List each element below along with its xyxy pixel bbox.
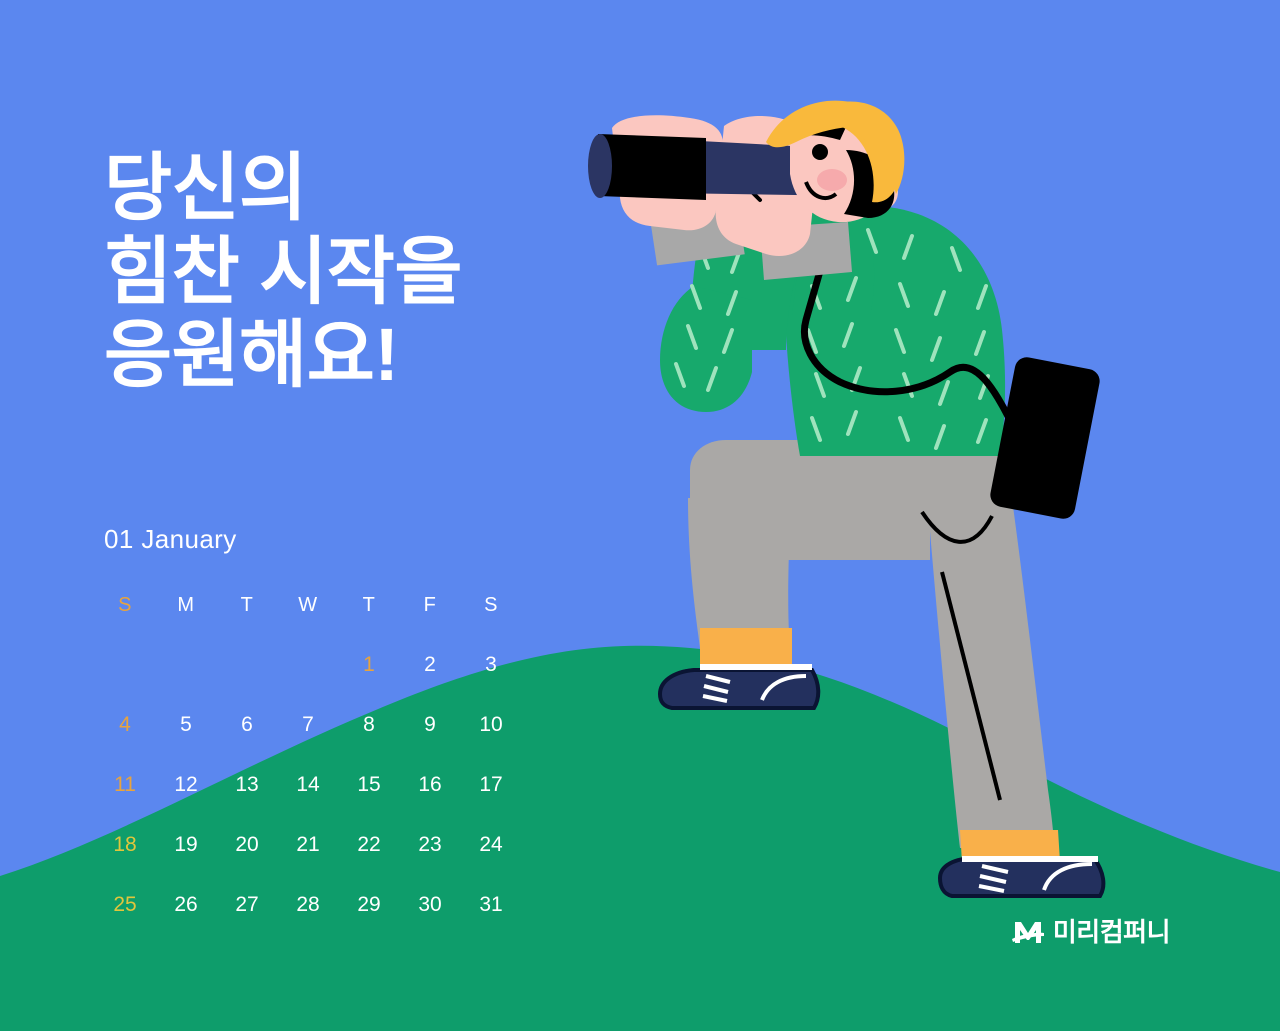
brand-logo: 미리컴퍼니 (1012, 917, 1170, 947)
calendar-day-9[interactable]: 9 (409, 714, 451, 735)
calendar-poster: 당신의 힘찬 시작을 응원해요! 01 January SMTWTFS ....… (0, 0, 1280, 1031)
calendar-weekday-5: F (409, 595, 451, 615)
calendar-day-31[interactable]: 31 (470, 894, 512, 915)
brand-logo-text: 미리컴퍼니 (1053, 919, 1170, 945)
calendar-day-15[interactable]: 15 (348, 774, 390, 795)
calendar-day-grid: ....123456789101112131415161718192021222… (104, 654, 524, 915)
calendar-empty-cell: . (226, 654, 268, 675)
calendar-day-1[interactable]: 1 (348, 654, 390, 675)
calendar-month-label: 01 January (104, 524, 524, 555)
calendar-day-30[interactable]: 30 (409, 894, 451, 915)
calendar-empty-cell: . (165, 654, 207, 675)
calendar-day-16[interactable]: 16 (409, 774, 451, 795)
calendar-day-24[interactable]: 24 (470, 834, 512, 855)
back-leg (688, 440, 930, 670)
calendar-day-28[interactable]: 28 (287, 894, 329, 915)
calendar-weekday-4: T (348, 595, 390, 615)
calendar-day-4[interactable]: 4 (104, 714, 146, 735)
calendar-day-6[interactable]: 6 (226, 714, 268, 735)
calendar-day-2[interactable]: 2 (409, 654, 451, 675)
calendar-weekday-0: S (104, 595, 146, 615)
calendar-day-8[interactable]: 8 (348, 714, 390, 735)
cheek-blush (817, 169, 847, 191)
calendar-day-7[interactable]: 7 (287, 714, 329, 735)
calendar-day-14[interactable]: 14 (287, 774, 329, 795)
calendar-empty-cell: . (104, 654, 146, 675)
eye-icon (812, 144, 828, 160)
calendar-day-10[interactable]: 10 (470, 714, 512, 735)
calendar-day-23[interactable]: 23 (409, 834, 451, 855)
calendar-day-25[interactable]: 25 (104, 894, 146, 915)
calendar-day-21[interactable]: 21 (287, 834, 329, 855)
calendar-weekday-6: S (470, 595, 512, 615)
calendar-day-17[interactable]: 17 (470, 774, 512, 795)
page-title: 당신의 힘찬 시작을 응원해요! (104, 146, 724, 397)
calendar-day-3[interactable]: 3 (470, 654, 512, 675)
calendar-day-5[interactable]: 5 (165, 714, 207, 735)
calendar-empty-cell: . (287, 654, 329, 675)
calendar-day-18[interactable]: 18 (104, 834, 146, 855)
calendar-day-12[interactable]: 12 (165, 774, 207, 795)
calendar-day-26[interactable]: 26 (165, 894, 207, 915)
back-shoe (660, 664, 818, 708)
shoulder-bag (988, 355, 1101, 521)
calendar-day-19[interactable]: 19 (165, 834, 207, 855)
front-shoe (940, 856, 1103, 896)
calendar-day-11[interactable]: 11 (104, 774, 146, 795)
calendar-day-29[interactable]: 29 (348, 894, 390, 915)
back-sock (700, 628, 792, 670)
calendar-day-27[interactable]: 27 (226, 894, 268, 915)
calendar-block: 01 January SMTWTFS ....12345678910111213… (104, 524, 524, 915)
calendar-weekday-3: W (287, 595, 329, 615)
calendar-weekday-2: T (226, 595, 268, 615)
calendar-day-20[interactable]: 20 (226, 834, 268, 855)
m-swoosh-logo-icon (1012, 917, 1044, 947)
calendar-weekday-row: SMTWTFS (104, 595, 524, 615)
calendar-weekday-1: M (165, 595, 207, 615)
calendar-day-13[interactable]: 13 (226, 774, 268, 795)
calendar-day-22[interactable]: 22 (348, 834, 390, 855)
